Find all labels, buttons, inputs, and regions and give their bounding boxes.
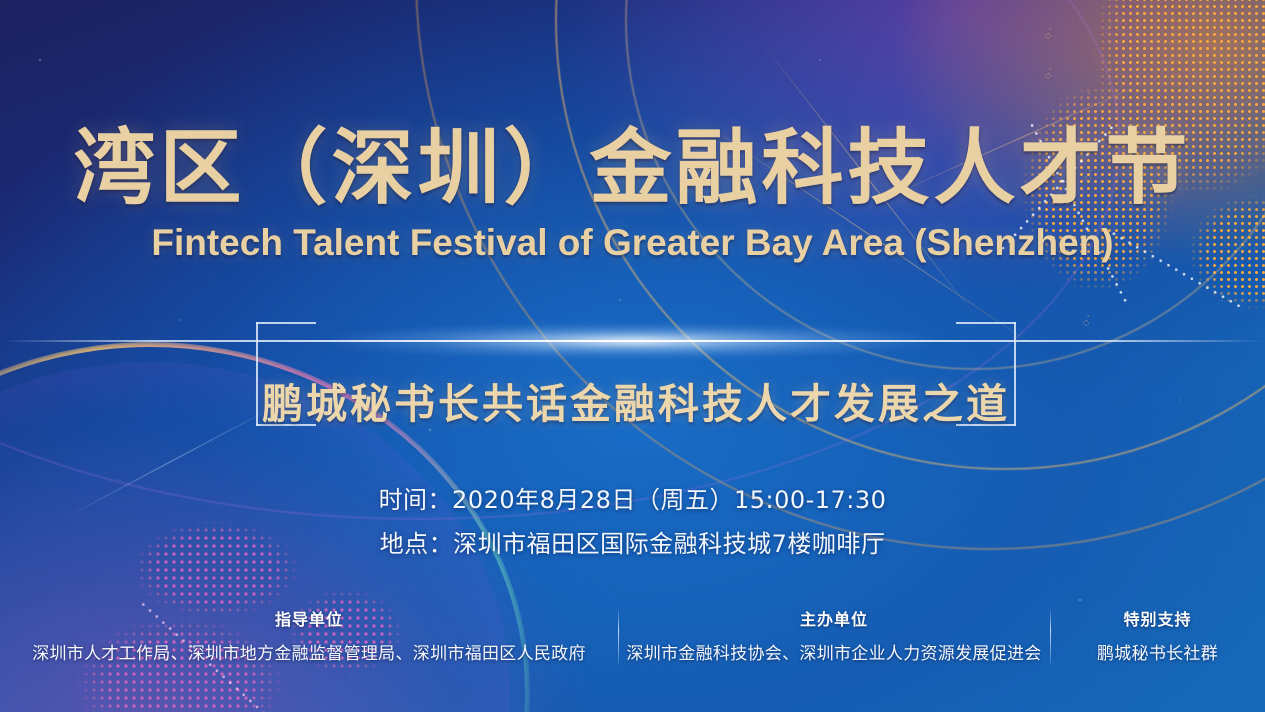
credit-column-support: 特别支持 鹏城秘书长社群 (1050, 606, 1265, 664)
credit-column-guidance: 指导单位 深圳市人才工作局、深圳市地方金融监督管理局、深圳市福田区人民政府 (0, 606, 618, 664)
poster-title-chinese: 湾区（深圳）金融科技人才节 (0, 128, 1265, 210)
bracket-top-right-arm (956, 322, 1016, 324)
event-poster: 湾区（深圳）金融科技人才节 Fintech Talent Festival of… (0, 0, 1265, 712)
credit-organizations: 深圳市金融科技协会、深圳市企业人力资源发展促进会 (618, 639, 1050, 664)
credit-heading: 特别支持 (1050, 606, 1265, 630)
credit-organizations: 深圳市人才工作局、深圳市地方金融监督管理局、深圳市福田区人民政府 (0, 639, 618, 664)
poster-subtitle: 鹏城秘书长共话金融科技人才发展之道 (256, 370, 1016, 430)
poster-title-block: 湾区（深圳）金融科技人才节 Fintech Talent Festival of… (0, 128, 1265, 264)
subtitle-bracket-frame: 鹏城秘书长共话金融科技人才发展之道 (256, 322, 1016, 426)
event-time-line: 时间：2020年8月28日（周五）15:00-17:30 (0, 488, 1265, 512)
credit-column-host: 主办单位 深圳市金融科技协会、深圳市企业人力资源发展促进会 (618, 606, 1050, 664)
credit-organizations: 鹏城秘书长社群 (1050, 639, 1265, 664)
event-info-block: 时间：2020年8月28日（周五）15:00-17:30 地点：深圳市福田区国际… (0, 488, 1265, 556)
organizer-credits: 指导单位 深圳市人才工作局、深圳市地方金融监督管理局、深圳市福田区人民政府 主办… (0, 606, 1265, 664)
credit-heading: 主办单位 (618, 606, 1050, 630)
event-venue-line: 地点：深圳市福田区国际金融科技城7楼咖啡厅 (0, 532, 1265, 556)
credit-heading: 指导单位 (0, 606, 618, 630)
poster-title-english: Fintech Talent Festival of Greater Bay A… (0, 222, 1265, 264)
bracket-top-left-arm (256, 322, 316, 324)
